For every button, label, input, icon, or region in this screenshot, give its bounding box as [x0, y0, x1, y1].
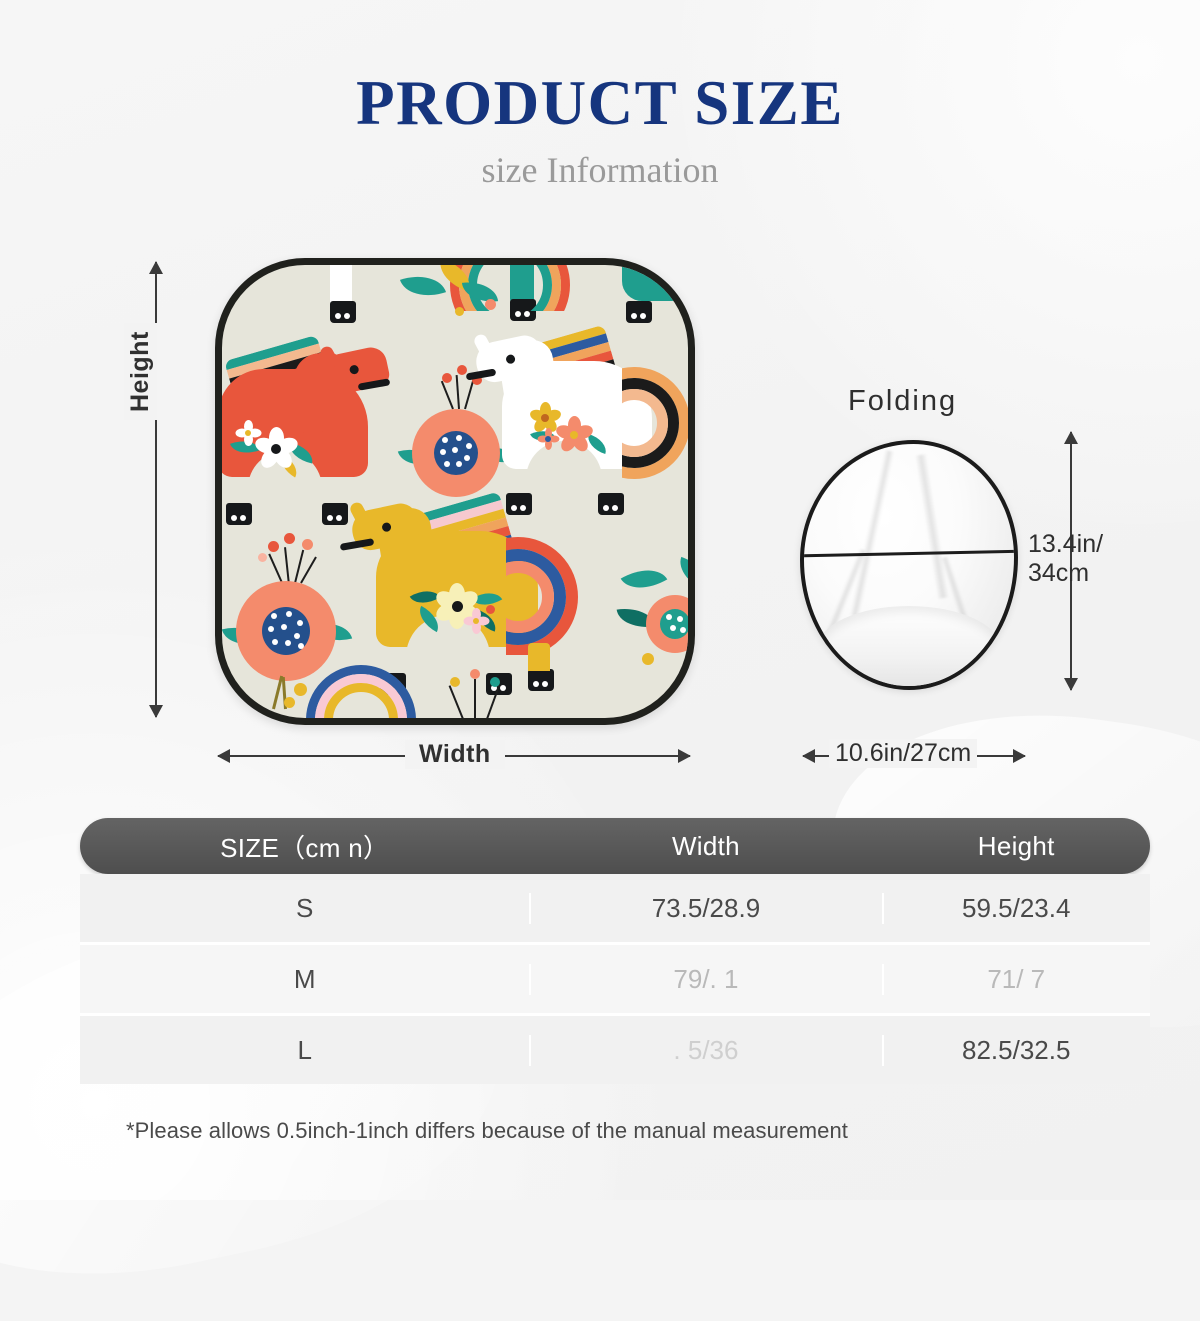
size-table: SIZE（cm n） Width Height S 73.5/28.9 59.5… — [80, 818, 1150, 1084]
row-size: L — [80, 1035, 529, 1066]
folding-height-line1: 13.4in/ — [1028, 530, 1178, 559]
height-label: Height — [124, 323, 157, 420]
table-header-row: SIZE（cm n） Width Height — [80, 818, 1150, 874]
folded-product-inner-lip — [817, 606, 1002, 690]
table-header-width: Width — [529, 831, 882, 862]
row-width: . 5/36 — [529, 1035, 882, 1066]
pattern-rainbow-tail-white — [622, 367, 692, 479]
pattern-partial-body-teal — [622, 263, 695, 301]
row-size: S — [80, 893, 529, 924]
row-width: 79/. 1 — [529, 964, 882, 995]
row-size: M — [80, 964, 529, 995]
table-header-height: Height — [882, 831, 1150, 862]
page-title: PRODUCT SIZE — [0, 72, 1200, 135]
product-fabric-panel — [215, 258, 695, 725]
product-image — [215, 258, 695, 725]
folded-product-seam — [802, 550, 1018, 558]
pattern-bloom-teal-bottom-right — [622, 561, 695, 681]
measurement-disclaimer: *Please allows 0.5inch-1inch differs bec… — [126, 1118, 848, 1144]
table-row: M 79/. 1 71/ 7 — [80, 942, 1150, 1013]
table-header-size: SIZE（cm n） — [80, 828, 529, 865]
pattern-flower-top-right — [397, 259, 517, 333]
page-subtitle: size Information — [0, 152, 1200, 188]
pattern-horse-orange — [218, 335, 398, 515]
pattern-stems-bottom — [434, 669, 524, 725]
width-label: Width — [405, 740, 505, 769]
folding-height-line2: 34cm — [1028, 559, 1178, 588]
pattern-rainbow-tail-yellow — [506, 537, 582, 655]
row-width: 73.5/28.9 — [529, 893, 882, 924]
folding-width-label: 10.6in/27cm — [829, 739, 977, 768]
pattern-rainbow-bottom-left — [306, 665, 416, 725]
row-height: 71/ 7 — [882, 964, 1150, 995]
folding-title: Folding — [848, 385, 957, 418]
folding-height-label: 13.4in/ 34cm — [1028, 530, 1178, 588]
row-height: 59.5/23.4 — [882, 893, 1150, 924]
pattern-horse-white — [472, 327, 652, 507]
pattern-partial-leg-yellow — [528, 643, 550, 671]
table-row: L . 5/36 82.5/32.5 — [80, 1013, 1150, 1084]
row-height: 82.5/32.5 — [882, 1035, 1150, 1066]
table-row: S 73.5/28.9 59.5/23.4 — [80, 874, 1150, 942]
folded-product-image — [800, 440, 1018, 690]
